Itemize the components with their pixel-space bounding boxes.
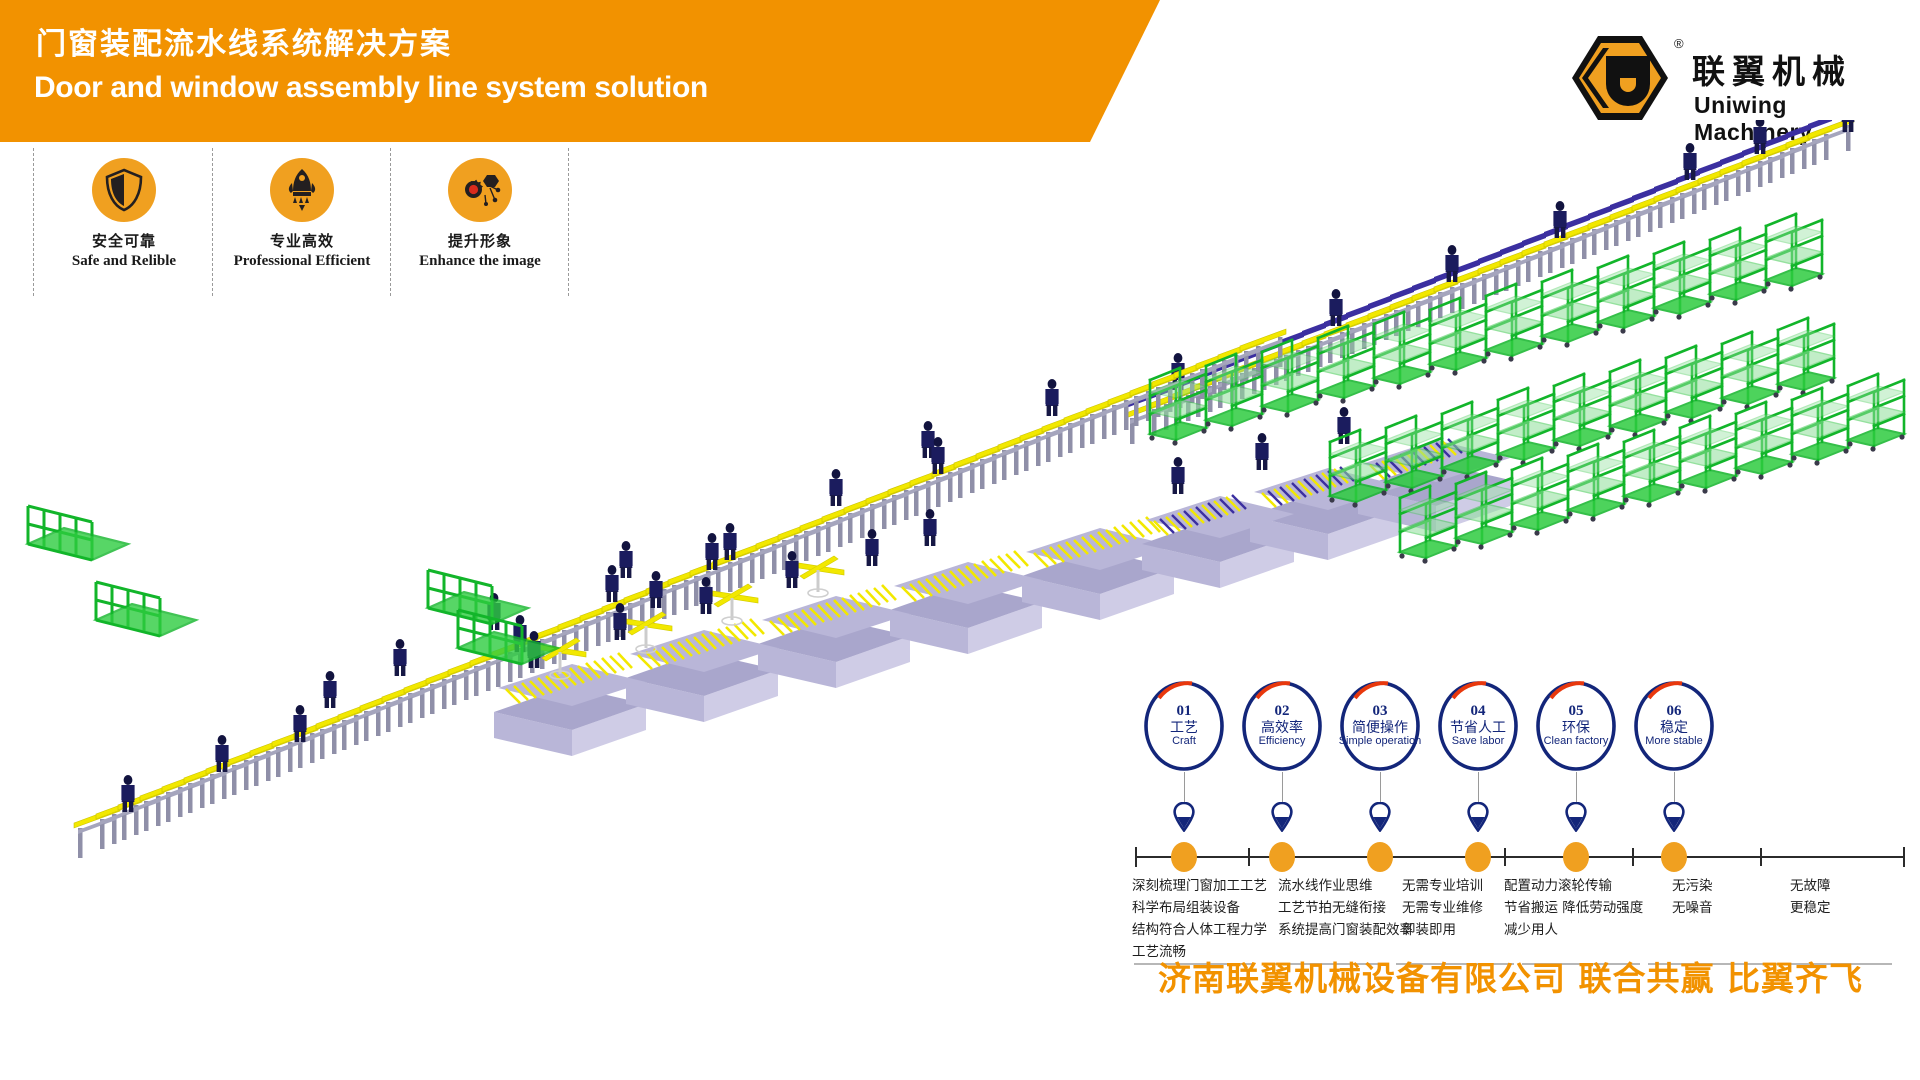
desc-line: 无需专业培训 <box>1402 876 1483 898</box>
registered-trademark-icon: ® <box>1674 36 1684 51</box>
benefit-title-cn: 稳定 <box>1660 720 1688 736</box>
timeline-dot <box>1661 842 1687 872</box>
desc-line: 更稳定 <box>1790 898 1831 920</box>
benefit-ring-02: 02 高效率 Efficiency <box>1240 680 1324 772</box>
desc-line: 深刻梳理门窗加工工艺 <box>1132 876 1267 898</box>
hexagon-u-logo-icon <box>1570 34 1670 122</box>
benefit-title-en: Clean factory <box>1544 736 1609 748</box>
timeline-axis <box>1135 856 1905 858</box>
map-pin-icon <box>1565 802 1587 837</box>
benefit-node-02[interactable]: 02 高效率 Efficiency <box>1234 680 1330 772</box>
desc-line: 节省搬运 降低劳动强度 <box>1504 898 1643 920</box>
benefit-ring-06: 06 稳定 More stable <box>1632 680 1716 772</box>
benefit-desc-01: 深刻梳理门窗加工工艺 科学布局组装设备 结构符合人体工程力学 工艺流畅 <box>1132 876 1267 963</box>
benefit-ring-01: 01 工艺 Craft <box>1142 680 1226 772</box>
benefit-title-en: Simple operation <box>1339 736 1422 748</box>
benefit-title-cn: 简便操作 <box>1352 720 1408 736</box>
desc-line: 无噪音 <box>1672 898 1713 920</box>
benefit-title-cn: 工艺 <box>1170 720 1198 736</box>
benefit-title-cn: 节省人工 <box>1450 720 1506 736</box>
axis-end-cap <box>1903 847 1905 867</box>
desc-line: 系统提高门窗装配效率 <box>1278 920 1413 942</box>
benefit-desc-02: 流水线作业思维 工艺节拍无缝衔接 系统提高门窗装配效率 <box>1278 876 1413 942</box>
benefit-ring-03: 03 简便操作 Simple operation <box>1338 680 1422 772</box>
benefit-desc-05: 无污染 无噪音 <box>1672 876 1713 920</box>
desc-line: 即装即用 <box>1402 920 1483 942</box>
logo-name-cn: 联翼机械 <box>1692 45 1852 93</box>
benefit-number: 06 <box>1667 704 1682 720</box>
benefit-number: 04 <box>1471 704 1486 720</box>
brand-logo: ® 联翼机械 Uniwing Machinery <box>1570 32 1900 127</box>
benefit-ring-04: 04 节省人工 Save labor <box>1436 680 1520 772</box>
benefit-number: 03 <box>1373 704 1388 720</box>
benefit-stem <box>1380 772 1381 804</box>
benefit-stem <box>1282 772 1283 804</box>
benefit-title-en: Craft <box>1172 736 1196 748</box>
map-pin-icon <box>1663 802 1685 837</box>
benefit-number: 05 <box>1569 704 1584 720</box>
timeline-dot <box>1465 842 1491 872</box>
benefit-number: 02 <box>1275 704 1290 720</box>
map-pin-icon <box>1173 802 1195 837</box>
benefit-title-cn: 环保 <box>1562 720 1590 736</box>
timeline-dot <box>1563 842 1589 872</box>
axis-end-cap <box>1135 847 1137 867</box>
benefit-node-04[interactable]: 04 节省人工 Save labor <box>1430 680 1526 772</box>
benefit-ring-05: 05 环保 Clean factory <box>1534 680 1618 772</box>
axis-tick <box>1248 848 1250 866</box>
page-title-cn: 门窗装配流水线系统解决方案 <box>36 28 452 61</box>
desc-line: 流水线作业思维 <box>1278 876 1413 898</box>
company-footer: 济南联翼机械设备有限公司 联合共赢 比翼齐飞 <box>1158 952 1863 1000</box>
desc-line: 减少用人 <box>1504 920 1643 942</box>
pallet-stand <box>96 582 196 636</box>
benefit-stem <box>1478 772 1479 804</box>
map-pin-icon <box>1271 802 1293 837</box>
benefit-desc-04: 配置动力滚轮传输 节省搬运 降低劳动强度 减少用人 <box>1504 876 1643 942</box>
timeline-dot <box>1269 842 1295 872</box>
desc-line: 结构符合人体工程力学 <box>1132 920 1267 942</box>
benefit-desc-03: 无需专业培训 无需专业维修 即装即用 <box>1402 876 1483 942</box>
benefit-title-cn: 高效率 <box>1261 720 1303 736</box>
benefit-node-01[interactable]: 01 工艺 Craft <box>1136 680 1232 772</box>
axis-tick <box>1504 848 1506 866</box>
benefit-stem <box>1576 772 1577 804</box>
desc-line: 无需专业维修 <box>1402 898 1483 920</box>
benefit-node-03[interactable]: 03 简便操作 Simple operation <box>1332 680 1428 772</box>
benefit-title-en: More stable <box>1645 736 1702 748</box>
benefit-node-05[interactable]: 05 环保 Clean factory <box>1528 680 1624 772</box>
desc-line: 配置动力滚轮传输 <box>1504 876 1643 898</box>
benefit-desc-06: 无故障 更稳定 <box>1790 876 1831 920</box>
desc-line: 无故障 <box>1790 876 1831 898</box>
map-pin-icon <box>1467 802 1489 837</box>
timeline-dot <box>1367 842 1393 872</box>
benefit-stem <box>1184 772 1185 804</box>
map-pin-icon <box>1369 802 1391 837</box>
desc-line: 无污染 <box>1672 876 1713 898</box>
poster-root: 门窗装配流水线系统解决方案 Door and window assembly l… <box>0 0 1920 1080</box>
benefit-stem <box>1674 772 1675 804</box>
benefit-title-en: Efficiency <box>1259 736 1306 748</box>
desc-line: 科学布局组装设备 <box>1132 898 1267 920</box>
desc-line: 工艺节拍无缝衔接 <box>1278 898 1413 920</box>
page-title-en: Door and window assembly line system sol… <box>34 71 708 104</box>
benefit-number: 01 <box>1177 704 1192 720</box>
axis-tick <box>1632 848 1634 866</box>
benefit-node-06[interactable]: 06 稳定 More stable <box>1626 680 1722 772</box>
pallet-stand <box>28 506 128 560</box>
axis-tick <box>1760 848 1762 866</box>
timeline-dot <box>1171 842 1197 872</box>
benefit-title-en: Save labor <box>1452 736 1505 748</box>
